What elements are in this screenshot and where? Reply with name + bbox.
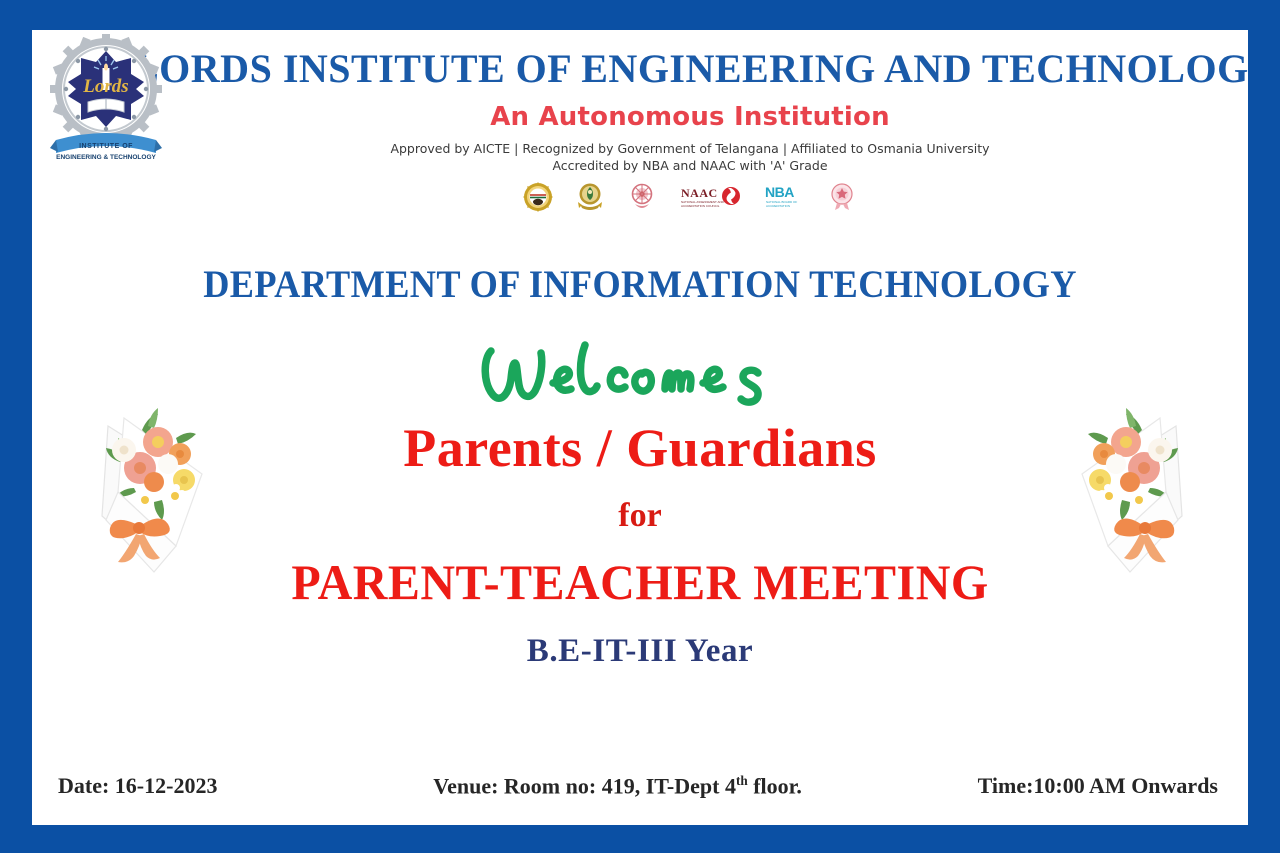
- footer-date: Date: 16-12-2023: [58, 773, 217, 799]
- svg-text:ENGINEERING & TECHNOLOGY: ENGINEERING & TECHNOLOGY: [56, 154, 156, 161]
- approval-line-2: Accredited by NBA and NAAC with 'A' Grad…: [132, 157, 1248, 174]
- government-emblem-badge-icon: [575, 182, 605, 217]
- banner-header: Lords INSTITUTE OF ENGINEERING & TECHNOL…: [32, 30, 1248, 210]
- lords-institute-logo-icon: Lords INSTITUTE OF ENGINEERING & TECHNOL…: [50, 34, 162, 164]
- svg-text:NBA: NBA: [765, 184, 794, 200]
- autonomous-institution-text: An Autonomous Institution: [132, 102, 1248, 132]
- osmania-university-badge-icon: [627, 182, 657, 217]
- svg-text:ACCREDITATION COUNCIL: ACCREDITATION COUNCIL: [681, 204, 720, 208]
- naac-badge-icon: NAAC NATIONAL ASSESSMENT AND ACCREDITATI…: [679, 182, 741, 217]
- svg-text:NAAC: NAAC: [681, 186, 718, 200]
- banner-footer: Date: 16-12-2023 Venue: Room no: 419, IT…: [32, 773, 1248, 799]
- aicte-badge-icon: [523, 182, 553, 217]
- event-title: PARENT-TEACHER MEETING: [56, 553, 1223, 611]
- footer-venue-superscript: th: [736, 773, 748, 788]
- banner-border-frame: Lords INSTITUTE OF ENGINEERING & TECHNOL…: [0, 0, 1280, 853]
- accreditation-rosette-badge-icon: [827, 182, 857, 217]
- flower-bouquet-left-icon: [84, 396, 219, 576]
- footer-time: Time:10:00 AM Onwards: [978, 773, 1218, 799]
- approval-text-block: Approved by AICTE | Recognized by Govern…: [132, 140, 1248, 175]
- svg-text:INSTITUTE OF: INSTITUTE OF: [79, 143, 133, 150]
- year-class-text: B.E-IT-III Year: [32, 633, 1248, 670]
- institute-name: LORDS INSTITUTE OF ENGINEERING AND TECHN…: [132, 36, 1248, 90]
- approval-line-1: Approved by AICTE | Recognized by Govern…: [132, 140, 1248, 157]
- svg-text:ACCREDITATION: ACCREDITATION: [766, 204, 790, 208]
- footer-venue-prefix: Venue: Room no: 419, IT-Dept 4: [433, 773, 736, 798]
- department-title: DEPARTMENT OF INFORMATION TECHNOLOGY: [75, 262, 1206, 307]
- nba-badge-icon: NBA NATIONAL BOARD OF ACCREDITATION: [763, 182, 805, 217]
- svg-text:Lords: Lords: [82, 76, 128, 97]
- accreditation-badge-row: NAAC NATIONAL ASSESSMENT AND ACCREDITATI…: [132, 182, 1248, 217]
- footer-venue-suffix: floor.: [748, 773, 802, 798]
- footer-venue: Venue: Room no: 419, IT-Dept 4th floor.: [433, 773, 802, 799]
- flower-bouquet-right-icon: [1065, 396, 1200, 576]
- banner-white-panel: Lords INSTITUTE OF ENGINEERING & TECHNOL…: [32, 30, 1248, 825]
